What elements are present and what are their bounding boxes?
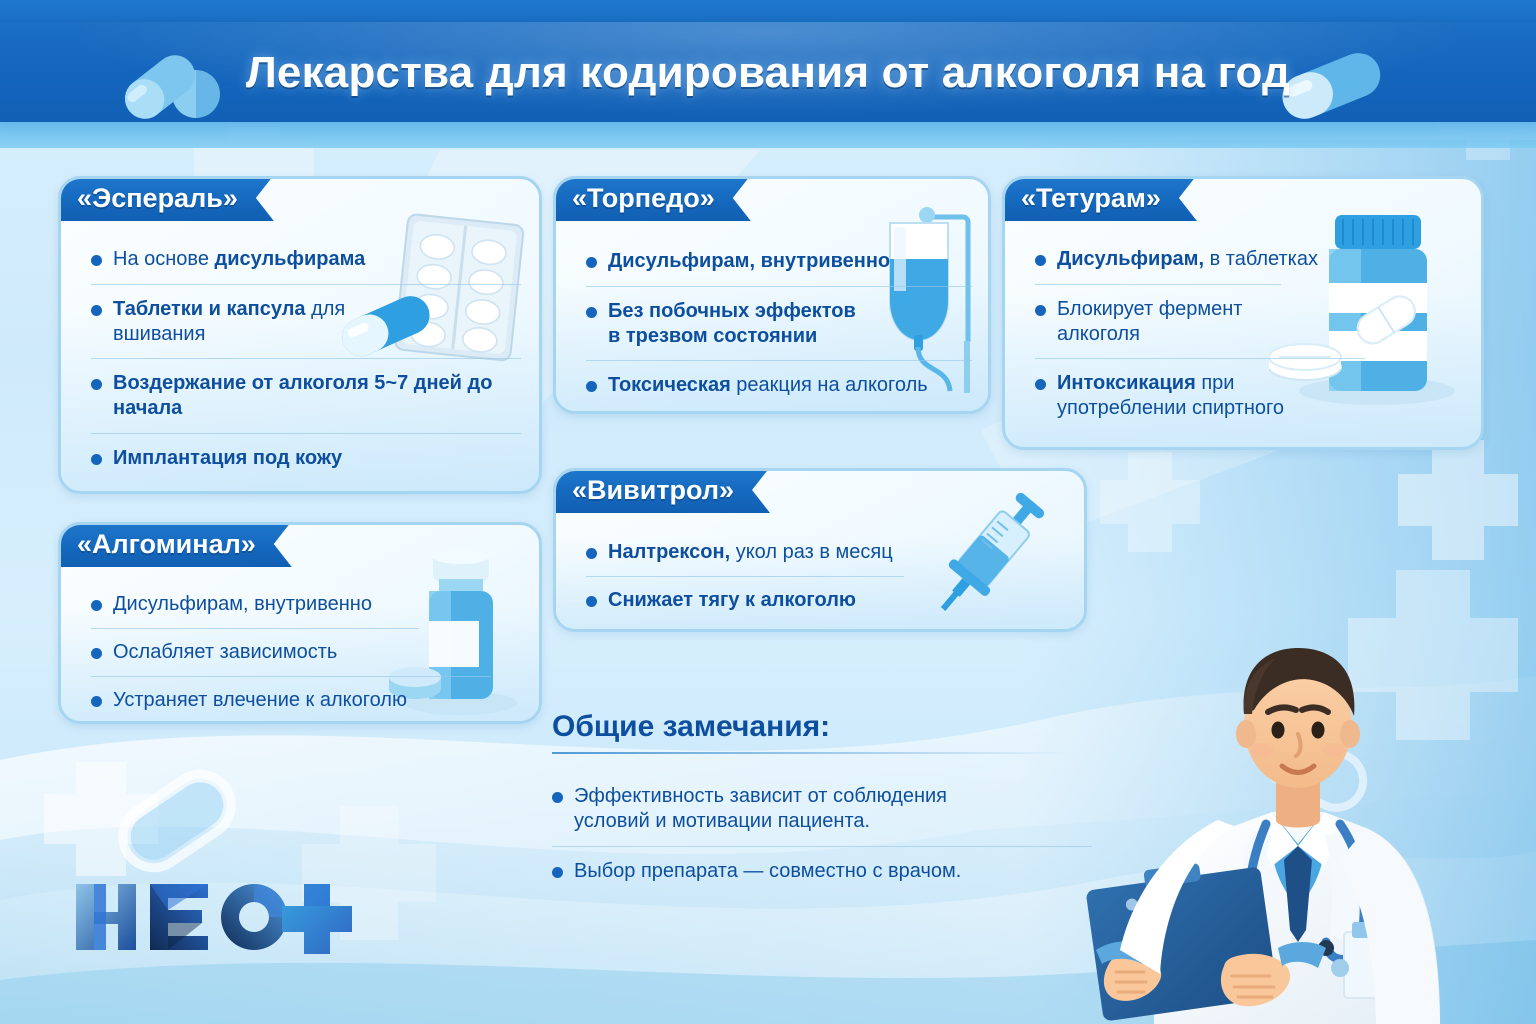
card-title-esperal: «Эспераль» [58,176,274,221]
notes-list: Эффективность зависит от соблюдения усло… [552,772,1092,895]
list-item: Блокирует фермент алкоголя [1035,284,1281,359]
list-item-text: Эффективность зависит от соблюдения усло… [574,784,1004,834]
syringe-icon [898,481,1078,627]
list-item: Токсическая реакция на алкоголь [586,360,972,410]
list-item-text: Выбор препарата — совместно с врачом. [574,859,961,884]
list-item: Эффективность зависит от соблюдения усло… [552,772,1092,846]
card-torpedo: «Торпедо» Дисульфирам, внутривенно Без п… [553,176,991,414]
card-items-algominal: Дисульфирам, внутривенно Ослабляет завис… [91,581,419,723]
page-title: Лекарства для кодирования от алкоголя на… [0,42,1536,104]
bullet-icon [91,305,102,316]
list-item: Дисульфирам, в таблетках [1035,235,1281,284]
bullet-icon [1035,379,1046,390]
bullet-icon [586,596,597,607]
card-algominal: «Алгоминал» Дисульфирам, внутривенно Осл… [58,522,542,724]
brand-logo [72,872,352,962]
bullet-icon [552,792,563,803]
list-item-text: Дисульфирам, внутривенно [608,249,890,274]
bullet-icon [586,381,597,392]
list-item-text: Воздержание от алкоголя 5~7 дней до нача… [113,371,513,421]
bullet-icon [91,696,102,707]
bullet-icon [552,867,563,878]
list-item-text: Имплантация под кожу [113,446,342,471]
card-teturam: «Тетурам» Дисульфирам, в таблетках Блоки… [1002,176,1484,450]
bullet-icon [586,257,597,268]
bullet-icon [91,379,102,390]
list-item-text: Без побочных эффектов в трезвом состояни… [608,299,870,349]
list-item: Таблетки и капсула для вшивания [91,284,521,359]
card-title-algominal: «Алгоминал» [58,522,292,567]
list-item: Устраняет влечение к алкоголю [91,676,491,724]
card-title-torpedo: «Торпедо» [553,176,751,221]
doctor-with-clipboard-illustration [1076,544,1506,1024]
list-item-text: Блокирует фермент алкоголя [1057,297,1247,347]
list-item: Налтрексон, укол раз в месяц [586,529,904,576]
list-item: Без побочных эффектов в трезвом состояни… [586,286,972,361]
list-item: Интоксикация при употреблении спиртного [1035,358,1365,433]
card-title-teturam: «Тетурам» [1002,176,1197,221]
card-vivitrol: «Вивитрол» Налтрексон, укол раз в месяц … [553,468,1087,632]
list-item: Дисульфирам, внутривенно [91,581,419,628]
list-item-text: Налтрексон, укол раз в месяц [608,540,893,565]
list-item: Снижает тягу к алкоголю [586,576,904,624]
card-items-vivitrol: Налтрексон, укол раз в месяц Снижает тяг… [586,529,904,624]
bullet-icon [586,548,597,559]
list-item-text: На основе дисульфирама [113,247,365,272]
notes-divider [552,752,1072,754]
list-item: Ослабляет зависимость [91,628,419,676]
bullet-icon [1035,305,1046,316]
bullet-icon [1035,255,1046,266]
list-item: Выбор препарата — совместно с врачом. [552,846,1092,896]
list-item-text: Снижает тягу к алкоголю [608,588,856,613]
bullet-icon [91,600,102,611]
notes-title: Общие замечания: [552,710,830,744]
bullet-icon [91,255,102,266]
bullet-icon [91,454,102,465]
list-item-text: Дисульфирам, внутривенно [113,592,372,617]
header-top-strip [0,0,1536,24]
list-item: Дисульфирам, внутривенно [586,237,972,286]
list-item-text: Интоксикация при употреблении спиртного [1057,371,1365,421]
list-item-text: Ослабляет зависимость [113,640,337,665]
infographic-poster: Лекарства для кодирования от алкоголя на… [0,0,1536,1024]
card-esperal: «Эспераль» На основе дисульфирама Таблет… [58,176,542,494]
list-item: Имплантация под кожу [91,433,521,483]
list-item: Воздержание от алкоголя 5~7 дней до нача… [91,358,521,433]
card-items-esperal: На основе дисульфирама Таблетки и капсул… [91,235,521,483]
list-item-text: Таблетки и капсула для вшивания [113,297,373,347]
bullet-icon [91,648,102,659]
list-item-text: Дисульфирам, в таблетках [1057,247,1318,272]
neo-plus-logo-icon [72,872,352,962]
list-item-text: Устраняет влечение к алкоголю [113,688,407,713]
list-item-text: Токсическая реакция на алкоголь [608,373,928,398]
card-title-vivitrol: «Вивитрол» [553,468,770,513]
card-items-torpedo: Дисульфирам, внутривенно Без побочных эф… [586,237,972,410]
list-item: На основе дисульфирама [91,235,521,284]
bullet-icon [586,307,597,318]
card-items-teturam: Дисульфирам, в таблетках Блокирует ферме… [1035,235,1281,433]
